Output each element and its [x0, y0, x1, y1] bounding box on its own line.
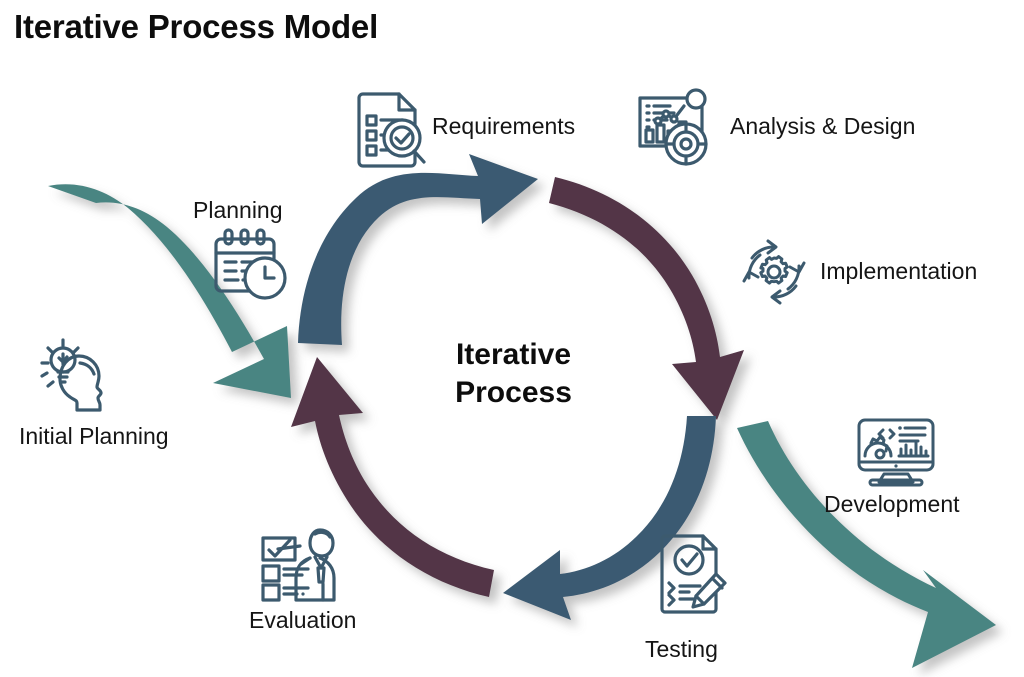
stage-label-requirements: Requirements	[432, 113, 575, 139]
center-label-line2: Process	[381, 374, 646, 412]
presenter-board-icon	[258, 524, 344, 604]
calendar-clock-icon	[208, 226, 290, 304]
center-label-line1: Iterative	[381, 336, 646, 374]
stage-label-implementation: Implementation	[820, 258, 977, 284]
lightbulb-head-icon	[36, 332, 122, 412]
stage-label-development: Development	[824, 491, 960, 517]
chart-dashboard-icon	[634, 86, 718, 168]
stage-label-evaluation: Evaluation	[249, 607, 356, 633]
arrow-planning-to-requirements	[298, 154, 538, 345]
stage-label-analysis-design: Analysis & Design	[730, 113, 915, 139]
stage-label-initial-planning: Initial Planning	[19, 423, 169, 449]
gear-cycle-icon	[738, 236, 810, 308]
document-checklist-magnifier-icon	[350, 90, 432, 174]
checklist-pencil-icon	[654, 531, 732, 619]
monitor-code-icon	[854, 416, 938, 488]
stage-label-planning: Planning	[193, 197, 283, 223]
center-label: Iterative Process	[381, 336, 646, 411]
stage-label-testing: Testing	[645, 636, 718, 662]
diagram-canvas: Iterative Process Model	[0, 0, 1024, 677]
